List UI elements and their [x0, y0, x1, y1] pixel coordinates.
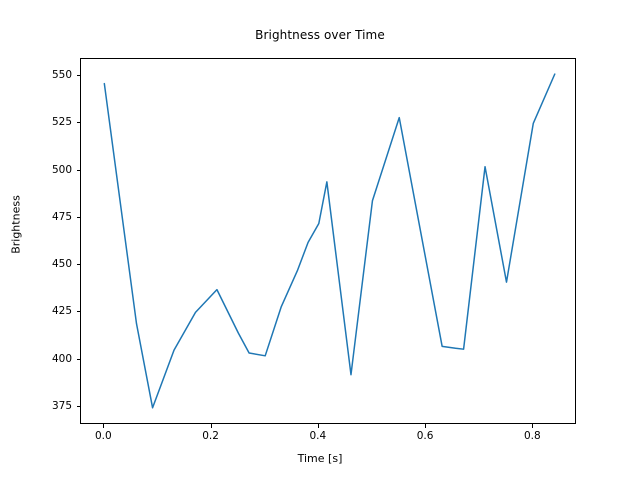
x-tick-mark [425, 424, 426, 428]
x-tick-label: 0.8 [502, 430, 562, 442]
x-tick-label: 0.0 [73, 430, 133, 442]
x-tick-mark [532, 424, 533, 428]
x-axis-label: Time [s] [0, 452, 640, 465]
x-tick-label: 0.6 [395, 430, 455, 442]
x-tick-mark [318, 424, 319, 428]
x-tick-mark [211, 424, 212, 428]
x-tick-mark [103, 424, 104, 428]
x-tick-label: 0.2 [181, 430, 241, 442]
x-tick-label: 0.4 [288, 430, 348, 442]
figure-canvas: Brightness over Time Brightness 37540042… [0, 0, 640, 480]
x-axis-tick-labels: 0.00.20.40.60.8 [0, 430, 640, 450]
x-axis-tick-marks [0, 0, 640, 480]
